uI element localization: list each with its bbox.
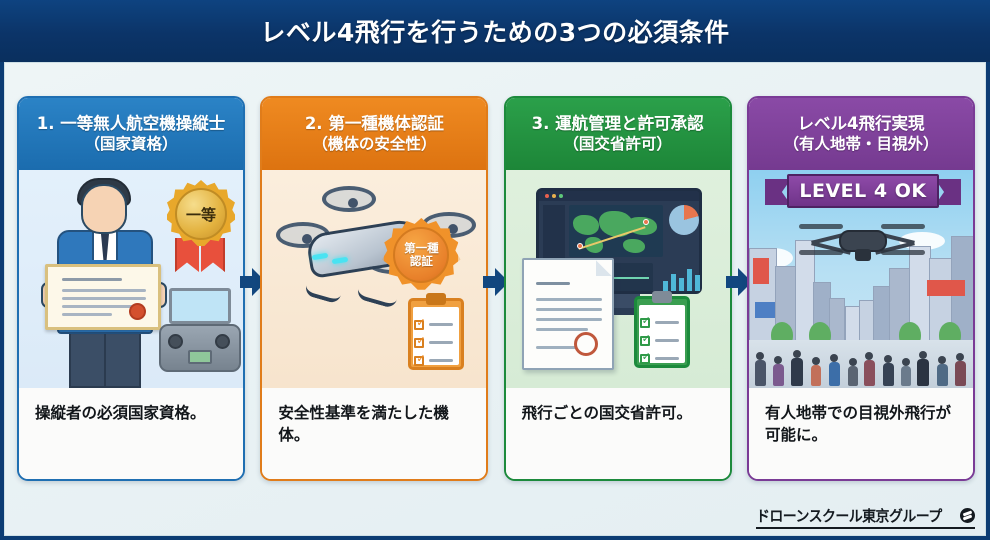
document-fold [596, 260, 612, 276]
card-1-title-line2: （国家資格） [84, 135, 177, 154]
person-legs-split [104, 330, 106, 388]
arrow-gap-3 [732, 96, 747, 481]
flight-origin-point [577, 243, 583, 249]
type1-certification-badge: 第一種 認証 [384, 218, 458, 292]
rc-stick-left [168, 334, 183, 349]
card-2-illustration: 第一種 認証 ✓ ✓ ✓ [262, 170, 486, 388]
page-title: レベル4飛行を行うための3つの必須条件 [260, 13, 729, 49]
card-1-title-line1: 1. 一等無人航空機操縦士 [37, 114, 226, 135]
storefront-sign-ok [927, 280, 965, 296]
level4-ok-ribbon: LEVEL 4 OK [765, 174, 961, 212]
ribbon-label: LEVEL 4 OK [799, 180, 926, 202]
arrow-gap-1 [245, 96, 260, 481]
world-map-panel [569, 205, 663, 257]
clipboard-clip-icon [426, 293, 446, 305]
drone-camera-icon [855, 249, 871, 261]
card-3-caption: 飛行ごとの国交省許可。 [506, 388, 730, 481]
card-3-title-line2: （国交省許可） [563, 135, 672, 154]
first-class-rosette-badge: 一等 [165, 180, 237, 276]
ribbon-body: LEVEL 4 OK [787, 174, 939, 208]
certificate-document [45, 264, 161, 330]
card-3-illustration: ✓ ✓ ✓ [506, 170, 730, 388]
person-head [81, 184, 127, 234]
rc-display [188, 350, 212, 364]
permit-document [522, 258, 614, 370]
card-4-caption: 有人地帯での目視外飛行が可能に。 [749, 388, 973, 481]
card-4-title-line1: レベル4飛行実現 [797, 114, 924, 135]
card-step-2[interactable]: 2. 第一種機体認証 （機体の安全性） 第一 [260, 96, 488, 481]
green-checklist-clipboard: ✓ ✓ ✓ [634, 296, 690, 368]
arrow-gap-2 [488, 96, 503, 481]
monitor-titlebar [539, 191, 699, 201]
card-2-title-line2: （機体の安全性） [312, 135, 436, 154]
infographic-root: レベル4飛行を行うための3つの必須条件 1. 一等無人航空機操縦士 （国家資格） [0, 0, 990, 540]
storefront-sign-blue [755, 302, 775, 318]
clipboard-clip-icon-green [652, 291, 672, 303]
card-step-3[interactable]: 3. 運航管理と許可承認 （国交省許可） [504, 96, 732, 481]
card-step-1[interactable]: 1. 一等無人航空機操縦士 （国家資格） [17, 96, 245, 481]
rc-stick-right [215, 334, 230, 349]
card-step-4[interactable]: レベル4飛行実現 （有人地帯・目視外） [747, 96, 975, 481]
drone-school-emblem-icon [960, 508, 975, 523]
drone-landing-leg-left [304, 273, 345, 304]
orange-checklist-clipboard: ✓ ✓ ✓ [408, 298, 464, 370]
brand-logo[interactable]: ドローンスクール東京グループ [756, 505, 975, 529]
card-1-caption: 操縦者の必須国家資格。 [19, 388, 243, 481]
card-2-title-line1: 2. 第一種機体認証 [305, 114, 444, 135]
card-1-illustration: 一等 [19, 170, 243, 388]
card-2-caption: 安全性基準を満たした機体。 [262, 388, 486, 481]
card-1-header: 1. 一等無人航空機操縦士 （国家資格） [19, 98, 243, 170]
rc-controller [159, 288, 241, 376]
card-4-header: レベル4飛行実現 （有人地帯・目視外） [749, 98, 973, 170]
rosette-label: 一等 [186, 204, 216, 225]
certificate-seal-icon [129, 303, 146, 320]
card-4-title-line2: （有人地帯・目視外） [783, 135, 938, 154]
flight-dest-point [643, 219, 649, 225]
card-3-title-line1: 3. 運航管理と許可承認 [532, 114, 704, 135]
card-row: 1. 一等無人航空機操縦士 （国家資格） [5, 96, 987, 486]
rosette-disc: 一等 [175, 188, 227, 240]
brand-logo-text: ドローンスクール東京グループ [756, 505, 942, 526]
certification-badge-disc: 第一種 認証 [393, 227, 449, 283]
content-stage: 1. 一等無人航空機操縦士 （国家資格） [4, 62, 986, 536]
bar-chart-widget [661, 263, 701, 291]
card-3-header: 3. 運航管理と許可承認 （国交省許可） [506, 98, 730, 170]
card-2-header: 2. 第一種機体認証 （機体の安全性） [262, 98, 486, 170]
card-4-illustration: LEVEL 4 OK [749, 170, 973, 388]
flying-drone [803, 216, 923, 268]
pie-chart-widget [669, 205, 699, 235]
certification-badge-line2: 認証 [410, 255, 433, 268]
header-bar: レベル4飛行を行うための3つの必須条件 [0, 0, 990, 62]
official-seal-icon [574, 332, 598, 356]
rc-screen [169, 288, 231, 324]
drone-rotor-1 [322, 186, 376, 212]
storefront-sign-red [753, 258, 769, 284]
